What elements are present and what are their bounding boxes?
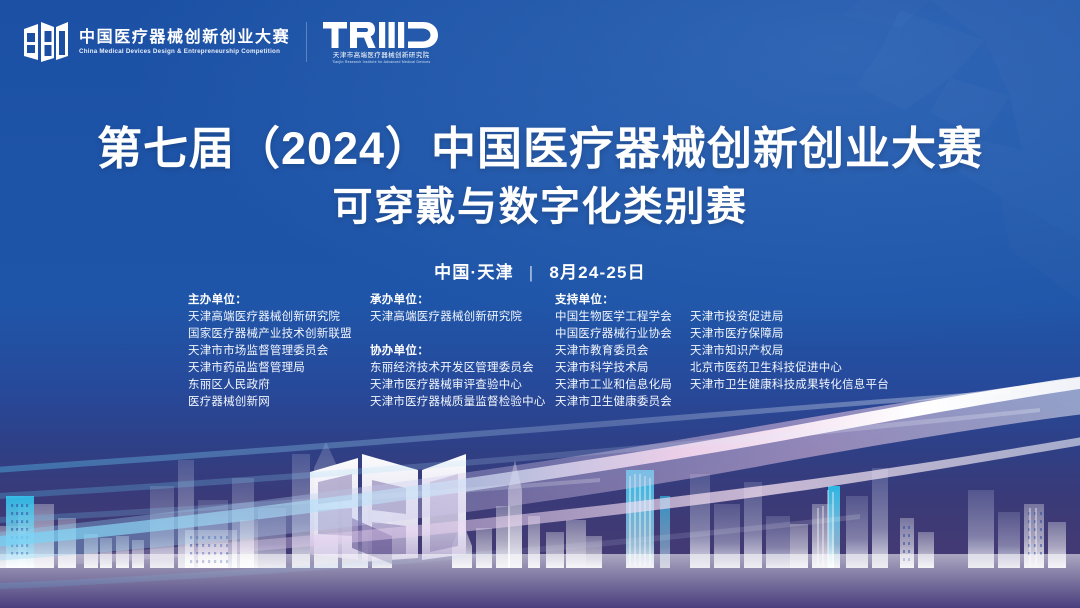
trimd-title-cn: 天津市高端医疗器械创新研究院 — [333, 52, 430, 59]
trimd-title-en: Tianjin Research Institute for Advanced … — [332, 61, 430, 65]
unit-block: 承办单位： 天津高端医疗器械创新研究院 — [370, 292, 555, 326]
door-monument-icon — [310, 454, 466, 564]
organizer-item: 天津市卫生健康科技成果转化信息平台 — [690, 377, 920, 394]
organizer-item: 天津市工业和信息化局 — [555, 377, 690, 394]
competition-logo-title-cn: 中国医疗器械创新创业大赛 — [79, 30, 290, 47]
door-window-icon — [22, 20, 70, 64]
trimd-logo: 天津市高端医疗器械创新研究院 Tianjin Research Institut… — [323, 20, 439, 65]
unit-block: 主办单位： 天津高端医疗器械创新研究院 国家医疗器械产业技术创新联盟 天津市市场… — [188, 292, 370, 411]
event-location: 中国·天津 — [434, 263, 514, 282]
organizer-heading: 承办单位： — [370, 292, 555, 309]
competition-logo-title-en: China Medical Devices Design & Entrepren… — [79, 48, 290, 55]
organizer-item: 天津市投资促进局 — [690, 309, 920, 326]
organizer-item: 医疗器械创新网 — [188, 394, 370, 411]
event-date: 8月24-25日 — [549, 263, 646, 282]
organizer-item: 天津市医疗保障局 — [690, 326, 920, 343]
organizer-item: 东丽区人民政府 — [188, 377, 370, 394]
organizer-item: 天津市卫生健康委员会 — [555, 394, 690, 411]
unit-block: 支持单位： 中国生物医学工程学会 中国医疗器械行业协会 天津市教育委员会 天津市… — [555, 292, 690, 411]
organizer-column-supporters-2: 天津市投资促进局 天津市医疗保障局 天津市知识产权局 北京市医药卫生科技促进中心… — [690, 292, 920, 394]
poster-canvas: 中国医疗器械创新创业大赛 China Medical Devices Desig… — [0, 0, 1080, 608]
organizer-item: 天津市医疗器械审评查验中心 — [370, 377, 555, 394]
organizer-item: 天津高端医疗器械创新研究院 — [188, 309, 370, 326]
city-skyline — [0, 408, 1080, 608]
competition-logo: 中国医疗器械创新创业大赛 China Medical Devices Desig… — [22, 20, 290, 64]
organizer-item: 国家医疗器械产业技术创新联盟 — [188, 326, 370, 343]
organizer-item: 天津市市场监督管理委员会 — [188, 343, 370, 360]
organizer-column-host: 主办单位： 天津高端医疗器械创新研究院 国家医疗器械产业技术创新联盟 天津市市场… — [188, 292, 370, 411]
unit-block: 天津市投资促进局 天津市医疗保障局 天津市知识产权局 北京市医药卫生科技促进中心… — [690, 309, 920, 394]
organizer-item: 天津市医疗器械质量监督检验中心 — [370, 394, 555, 411]
organizer-item: 天津市知识产权局 — [690, 343, 920, 360]
trimd-wordmark-icon — [323, 20, 439, 50]
organizer-heading: 主办单位： — [188, 292, 370, 309]
organizer-item: 中国生物医学工程学会 — [555, 309, 690, 326]
header-logos: 中国医疗器械创新创业大赛 China Medical Devices Desig… — [22, 20, 439, 65]
organizer-heading: 协办单位： — [370, 343, 555, 360]
logo-divider — [306, 22, 307, 62]
title-line-2: 可穿戴与数字化类别赛 — [0, 179, 1080, 236]
organizer-item: 东丽经济技术开发区管理委员会 — [370, 360, 555, 377]
organizer-heading: 支持单位： — [555, 292, 690, 309]
organizer-column-supporters-1: 支持单位： 中国生物医学工程学会 中国医疗器械行业协会 天津市教育委员会 天津市… — [555, 292, 690, 411]
organizer-column-organizer: 承办单位： 天津高端医疗器械创新研究院 协办单位： 东丽经济技术开发区管理委员会… — [370, 292, 555, 411]
organizer-item: 中国医疗器械行业协会 — [555, 326, 690, 343]
meta-separator: | — [529, 263, 535, 283]
column-spacer — [370, 326, 555, 343]
event-meta: 中国·天津 | 8月24-25日 — [0, 258, 1080, 283]
organizer-item: 天津市教育委员会 — [555, 343, 690, 360]
organizer-item: 北京市医药卫生科技促进中心 — [690, 360, 920, 377]
poster-title: 第七届（2024）中国医疗器械创新创业大赛 可穿戴与数字化类别赛 — [0, 120, 1080, 235]
organizer-item: 天津市药品监督管理局 — [188, 360, 370, 377]
organizer-item: 天津市科学技术局 — [555, 360, 690, 377]
title-line-1: 第七届（2024）中国医疗器械创新创业大赛 — [0, 120, 1080, 179]
organizer-columns: 主办单位： 天津高端医疗器械创新研究院 国家医疗器械产业技术创新联盟 天津市市场… — [188, 292, 920, 411]
unit-block: 协办单位： 东丽经济技术开发区管理委员会 天津市医疗器械审评查验中心 天津市医疗… — [370, 343, 555, 411]
organizer-item: 天津高端医疗器械创新研究院 — [370, 309, 555, 326]
